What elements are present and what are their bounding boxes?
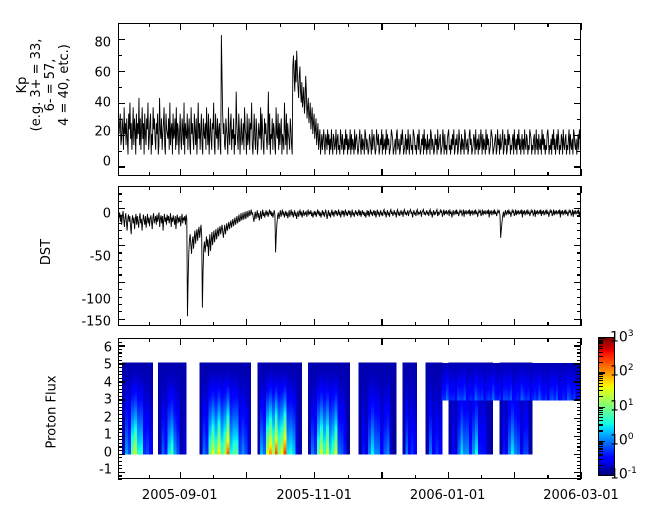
dst-ytick-minor [118,297,122,298]
pf-ytick-minor-right [577,392,581,393]
pf-xtick-minor [213,475,214,479]
colorbar-major-tick [599,407,605,408]
kp-xtick-minor [547,172,548,176]
kp-ytick-minor-right [577,87,581,88]
dst-xtick-major [246,319,247,326]
pf-ytick-major-right [574,345,581,346]
kp-xtick-major-top [246,23,247,30]
pf-ytick-minor-right [577,479,581,480]
kp-xtick-minor [348,172,349,176]
dst-ytick-minor [118,238,122,239]
pf-ytick-major [118,381,125,382]
pf-ytick-minor [118,392,122,393]
colorbar-minor-tick [599,465,603,466]
kp-xtick-minor-top [547,23,548,27]
pf-ytick-minor-right [577,367,581,368]
pf-ytick-minor [118,457,122,458]
colorbar-minor-tick [599,417,603,418]
kp-ytick-label-0: 0 [79,156,111,169]
kp-ytick-minor-right [577,55,581,56]
colorbar-minor-tick [599,408,603,409]
pf-ytick-minor-right [577,371,581,372]
dst-ytick-minor [118,274,122,275]
pf-ytick-minor-right [577,457,581,458]
pf-ytick-minor-right [577,352,581,353]
pf-xtick-major-top [581,338,582,345]
pf-xtick-major [246,472,247,479]
pf-ytick-minor [118,360,122,361]
kp-xtick-major [314,169,315,176]
colorbar-minor-tick [599,341,603,342]
pf-ytick-minor [118,443,122,444]
kp-axis-title-line-2: 6- = 57, [44,15,58,155]
colorbar-tick-label: 10-1 [610,469,637,482]
dst-ytick-minor-right [577,260,581,261]
colorbar-minor-tick [599,380,603,381]
kp-xtick-minor [149,172,150,176]
colorbar-minor-tick [599,348,603,349]
pf-ytick-label-1: 1 [88,429,112,442]
pf-ytick-major-right [574,399,581,400]
pf-ytick-minor-right [577,385,581,386]
pf-xtick-major [514,472,515,479]
dst-xtick-minor-top [415,186,416,190]
pf-ytick-minor-right [577,360,581,361]
dst-xtick-minor [415,322,416,326]
kp-ytick-minor-right [577,151,581,152]
dst-xtick-major [180,319,181,326]
kp-xtick-major-top [581,23,582,30]
dst-xtick-major-top [514,186,515,193]
pf-ytick-minor-right [577,356,581,357]
kp-ytick-label-40: 40 [79,97,111,110]
dst-axis-title: DST [40,222,54,282]
colorbar-minor-tick [599,444,603,445]
pf-ytick-minor-right [577,414,581,415]
dst-ytick-major-right [574,282,581,283]
dst-panel [118,186,581,326]
proton-flux-axis-title-label: Proton Flux [45,375,60,448]
colorbar-major-tick [599,441,605,442]
dst-ytick-label-0: 0 [66,208,111,221]
kp-xtick-major-top [381,23,382,30]
pf-ytick-minor-right [577,410,581,411]
kp-xtick-minor [280,172,281,176]
dst-xtick-minor-top [547,186,548,190]
kp-panel [118,23,581,176]
pf-ytick-minor [118,356,122,357]
pf-ytick-major-right [574,472,581,473]
dst-xtick-minor-top [149,186,150,190]
dst-ytick-minor [118,311,122,312]
proton-flux-axis-title: Proton Flux [46,355,60,470]
kp-ytick-major [118,135,125,136]
pf-xtick-major-top [448,338,449,345]
pf-ytick-minor [118,352,122,353]
kp-ytick-minor [118,151,122,152]
dst-xtick-major-top [314,186,315,193]
dst-ytick-major-right [574,245,581,246]
dst-xtick-minor-top [348,186,349,190]
pf-ytick-minor [118,342,122,343]
dst-xtick-major-top [381,186,382,193]
proton-flux-spectrogram [119,339,580,478]
pf-xtick-minor-top [213,338,214,342]
dst-axis-title-label: DST [39,239,54,265]
pf-xtick-minor-top [481,338,482,342]
dst-xtick-minor [280,322,281,326]
pf-ytick-major [118,363,125,364]
pf-ytick-minor-right [577,468,581,469]
pf-ytick-minor-right [577,465,581,466]
dst-ytick-minor [118,201,122,202]
pf-ytick-label-2: 2 [88,412,112,425]
kp-xtick-major-top [448,23,449,30]
pf-ytick-minor [118,403,122,404]
dst-ytick-major [118,282,125,283]
kp-xtick-minor-top [149,23,150,27]
colorbar-minor-tick [599,374,603,375]
x-axis-tick-label: 2005-09-01 [142,489,218,502]
pf-ytick-minor [118,439,122,440]
kp-xtick-major-top [314,23,315,30]
pf-ytick-minor-right [577,403,581,404]
pf-ytick-minor [118,389,122,390]
pf-ytick-label-4: 4 [88,377,112,390]
pf-ytick-minor [118,468,122,469]
dst-xtick-major [381,319,382,326]
pf-ytick-minor-right [577,439,581,440]
dst-xtick-minor-top [280,186,281,190]
pf-xtick-minor [415,475,416,479]
colorbar-minor-tick [599,424,603,425]
kp-ytick-major [118,103,125,104]
dst-ytick-minor [118,223,122,224]
dst-xtick-major [514,319,515,326]
dst-ytick-minor [118,304,122,305]
colorbar-major-tick [599,475,605,476]
kp-xtick-major [581,169,582,176]
pf-xtick-major-top [514,338,515,345]
dst-ytick-minor-right [577,304,581,305]
kp-xtick-major [381,169,382,176]
colorbar-minor-tick [599,378,603,379]
colorbar-major-tick [599,372,605,373]
pf-ytick-minor-right [577,443,581,444]
dst-ytick-minor [118,230,122,231]
dst-plot-line [119,187,580,325]
dst-ytick-major [118,245,125,246]
colorbar-minor-tick [599,420,603,421]
dst-xtick-minor [348,322,349,326]
kp-xtick-minor [415,172,416,176]
colorbar-minor-tick [599,414,603,415]
pf-ytick-major [118,399,125,400]
dst-ytick-minor-right [577,311,581,312]
colorbar-major-tick [599,338,605,339]
pf-ytick-minor [118,461,122,462]
pf-ytick-minor-right [577,418,581,419]
dst-ytick-major [118,208,125,209]
colorbar-minor-tick [599,346,603,347]
dst-ytick-minor [118,267,122,268]
pf-ytick-minor [118,374,122,375]
pf-xtick-minor [149,475,150,479]
dst-ytick-minor-right [577,274,581,275]
pf-ytick-minor [118,421,122,422]
proton-flux-panel [118,338,581,479]
colorbar-minor-tick [599,376,603,377]
pf-ytick-major [118,472,125,473]
colorbar-minor-tick [599,451,603,452]
kp-xtick-minor-top [415,23,416,27]
pf-ytick-minor [118,407,122,408]
pf-xtick-major-top [246,338,247,345]
pf-ytick-minor-right [577,421,581,422]
kp-ytick-label-60: 60 [79,67,111,80]
pf-ytick-minor [118,446,122,447]
kp-xtick-major [514,169,515,176]
colorbar-minor-tick [599,383,603,384]
pf-ytick-major [118,454,125,455]
kp-xtick-major [246,169,247,176]
kp-axis-title: Kp (e.g. 3+ = 33, 6- = 57, 4 = 40, etc.) [16,15,72,155]
pf-ytick-label-6: 6 [88,342,112,355]
pf-xtick-minor [280,475,281,479]
colorbar-minor-tick [599,396,603,397]
colorbar-minor-tick [599,343,603,344]
colorbar-tick-label: 103 [610,332,634,345]
pf-ytick-minor-right [577,461,581,462]
pf-ytick-minor [118,349,122,350]
kp-xtick-major [180,169,181,176]
kp-ytick-major-right [574,71,581,72]
pf-ytick-minor [118,465,122,466]
dst-ytick-minor-right [577,201,581,202]
kp-ytick-label-20: 20 [79,126,111,139]
pf-xtick-minor [547,475,548,479]
kp-ytick-minor [118,55,122,56]
dst-xtick-major-top [246,186,247,193]
pf-xtick-minor-top [149,338,150,342]
dst-ytick-minor [118,252,122,253]
pf-ytick-minor-right [577,349,581,350]
pf-ytick-minor [118,385,122,386]
kp-ytick-major-right [574,135,581,136]
dst-xtick-major-top [581,186,582,193]
dst-ytick-minor [118,260,122,261]
dst-ytick-label-50: -50 [66,251,111,264]
pf-ytick-major-right [574,381,581,382]
dst-xtick-minor [481,322,482,326]
kp-ytick-minor [118,119,122,120]
colorbar-minor-tick [599,390,603,391]
pf-ytick-minor-right [577,396,581,397]
dst-ytick-minor-right [577,223,581,224]
pf-xtick-minor-top [415,338,416,342]
colorbar-minor-tick [599,430,603,431]
pf-ytick-minor [118,410,122,411]
pf-ytick-major-right [574,363,581,364]
pf-ytick-minor [118,428,122,429]
pf-ytick-minor [118,425,122,426]
kp-ytick-major [118,71,125,72]
pf-xtick-major [381,472,382,479]
dst-ytick-minor-right [577,267,581,268]
kp-xtick-major-top [514,23,515,30]
dst-ytick-minor-right [577,297,581,298]
colorbar-tick-label: 100 [610,434,634,447]
pf-ytick-minor-right [577,450,581,451]
figure-root: Kp (e.g. 3+ = 33, 6- = 57, 4 = 40, etc.)… [0,0,665,523]
colorbar-minor-tick [599,446,603,447]
colorbar-tick-label: 102 [610,366,634,379]
dst-xtick-major [314,319,315,326]
pf-xtick-minor [348,475,349,479]
colorbar-minor-tick [599,412,603,413]
pf-ytick-label-neg1: -1 [88,464,112,477]
kp-ytick-major-right [574,103,581,104]
pf-ytick-label-3: 3 [88,394,112,407]
pf-ytick-minor [118,475,122,476]
pf-ytick-minor [118,371,122,372]
colorbar-tick-label: 101 [610,400,634,413]
pf-ytick-minor [118,414,122,415]
pf-xtick-minor-top [348,338,349,342]
pf-ytick-minor-right [577,374,581,375]
pf-ytick-label-0: 0 [88,447,112,460]
pf-ytick-minor-right [577,407,581,408]
colorbar-minor-tick [599,356,603,357]
kp-ytick-major [118,166,125,167]
kp-ytick-minor-right [577,119,581,120]
pf-ytick-minor-right [577,425,581,426]
pf-ytick-major-right [574,454,581,455]
dst-xtick-minor [149,322,150,326]
dst-ytick-major [118,319,125,320]
pf-ytick-minor [118,396,122,397]
dst-ytick-minor-right [577,252,581,253]
kp-xtick-minor-top [348,23,349,27]
pf-xtick-minor-top [547,338,548,342]
dst-ytick-label-100: -100 [66,294,111,307]
dst-ytick-minor-right [577,215,581,216]
dst-ytick-minor [118,193,122,194]
colorbar-minor-tick [599,352,603,353]
kp-axis-title-line-1: (e.g. 3+ = 33, [30,15,44,155]
kp-ytick-major-right [574,39,581,40]
dst-xtick-minor-top [213,186,214,190]
colorbar-minor-tick [599,454,603,455]
kp-ytick-label-80: 80 [79,37,111,50]
pf-ytick-minor [118,418,122,419]
x-axis-tick-label: 2006-03-01 [543,489,619,502]
dst-ytick-minor-right [577,289,581,290]
pf-xtick-major-top [381,338,382,345]
dst-xtick-major [581,319,582,326]
kp-xtick-major-top [180,23,181,30]
colorbar-minor-tick [599,459,603,460]
kp-plot-line [119,24,580,175]
kp-ytick-major-right [574,166,581,167]
dst-ytick-minor [118,289,122,290]
kp-axis-title-line-3: 4 = 40, etc.) [58,15,72,155]
pf-ytick-minor-right [577,446,581,447]
colorbar-minor-tick [599,362,603,363]
pf-xtick-major-top [180,338,181,345]
dst-ytick-minor-right [577,238,581,239]
kp-xtick-minor-top [481,23,482,27]
dst-ytick-minor [118,215,122,216]
pf-ytick-minor-right [577,389,581,390]
dst-xtick-minor [213,322,214,326]
pf-xtick-major [581,472,582,479]
dst-xtick-major-top [180,186,181,193]
kp-xtick-minor [213,172,214,176]
pf-ytick-major [118,345,125,346]
pf-xtick-minor-top [280,338,281,342]
x-axis-tick-label: 2005-11-01 [276,489,352,502]
pf-ytick-minor [118,378,122,379]
pf-ytick-major-right [574,436,581,437]
kp-axis-title-line-0: Kp [16,15,30,155]
dst-xtick-major-top [448,186,449,193]
dst-ytick-minor-right [577,193,581,194]
colorbar-minor-tick [599,340,603,341]
pf-ytick-minor-right [577,432,581,433]
pf-ytick-minor-right [577,428,581,429]
dst-xtick-major [448,319,449,326]
kp-ytick-minor [118,87,122,88]
dst-ytick-label-150: -150 [66,316,111,329]
pf-xtick-major [448,472,449,479]
pf-ytick-minor [118,432,122,433]
kp-xtick-major [448,169,449,176]
dst-ytick-major-right [574,208,581,209]
kp-ytick-major [118,39,125,40]
pf-ytick-minor [118,450,122,451]
pf-ytick-major [118,436,125,437]
pf-xtick-minor [481,475,482,479]
dst-ytick-minor-right [577,230,581,231]
colorbar-minor-tick [599,448,603,449]
colorbar-minor-tick [599,410,603,411]
pf-ytick-label-5: 5 [88,359,112,372]
kp-xtick-minor-top [213,23,214,27]
kp-xtick-minor-top [280,23,281,27]
colorbar-minor-tick [599,386,603,387]
pf-ytick-minor [118,479,122,480]
pf-xtick-major-top [314,338,315,345]
x-axis-tick-label: 2006-01-01 [410,489,486,502]
pf-xtick-major [314,472,315,479]
kp-xtick-minor [481,172,482,176]
dst-xtick-minor [547,322,548,326]
dst-ytick-major-right [574,319,581,320]
pf-ytick-minor [118,367,122,368]
colorbar-minor-tick [599,442,603,443]
pf-xtick-major [180,472,181,479]
pf-ytick-minor-right [577,378,581,379]
dst-xtick-minor-top [481,186,482,190]
